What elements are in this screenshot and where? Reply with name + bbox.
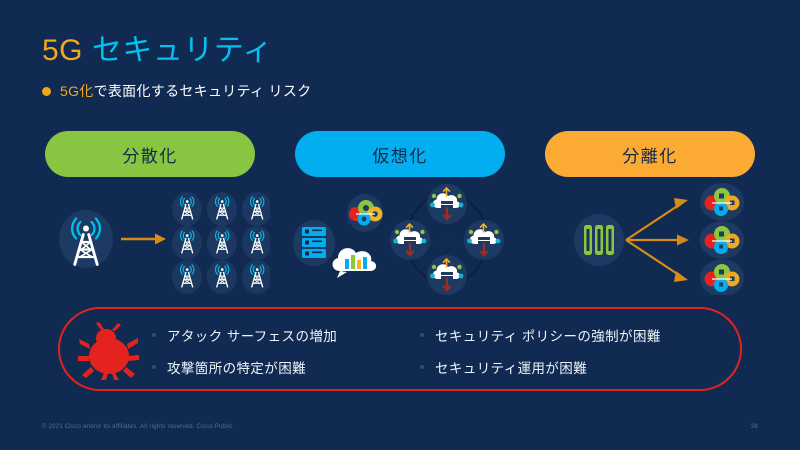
- diagram-distribution: [45, 183, 270, 295]
- page-subtitle: 5G化で表面化するセキュリティ リスク: [60, 81, 311, 101]
- pill-row: 分散化 仮想化 分離化: [0, 131, 800, 177]
- diagram-band: IP ネットワーク: [0, 183, 800, 295]
- alert-box: アタック サーフェスの増加 セキュリティ ポリシーの強制が困難 攻撃箇所の特定が…: [58, 307, 742, 391]
- ip-network-label-line2: ネットワーク: [426, 241, 468, 249]
- cell-tower-small-icon: [207, 192, 237, 226]
- diagram-isolation: [570, 183, 760, 295]
- title-block: 5G セキュリティ 5G化で表面化するセキュリティ リスク: [42, 34, 311, 101]
- server-rack-icon: [293, 220, 335, 266]
- isolation-svg: [570, 183, 760, 295]
- bug-icon: [78, 322, 140, 380]
- cloud-server-node: [464, 220, 504, 260]
- bullet-dot-icon: [42, 87, 51, 96]
- isolation-arrows-icon: [626, 203, 682, 277]
- alert-item: セキュリティ ポリシーの強制が困難: [420, 325, 732, 345]
- virtualization-svg: IP ネットワーク: [290, 183, 505, 295]
- gears-network-icon: [347, 194, 383, 232]
- pill-virtualization[interactable]: 仮想化: [295, 131, 505, 177]
- cell-tower-small-icon: [242, 226, 270, 260]
- cloud-server-node: [390, 220, 430, 260]
- pill-distribution[interactable]: 分散化: [45, 131, 255, 177]
- page-number: 28: [751, 424, 758, 430]
- cell-tower-small-icon: [172, 192, 202, 226]
- slide-canvas: 5G セキュリティ 5G化で表面化するセキュリティ リスク 分散化 仮想化 分離…: [0, 0, 800, 450]
- cloud-server-node: [427, 184, 467, 224]
- alert-bullet-icon: [420, 333, 424, 337]
- ip-network-label-line1: IP: [444, 232, 451, 239]
- cell-tower-small-icon: [207, 226, 237, 260]
- alert-bullet-icon: [152, 365, 156, 369]
- alert-item-label: セキュリティ運用が困難: [435, 357, 587, 377]
- alert-item: セキュリティ運用が困難: [420, 357, 732, 377]
- multi-lock-node: [700, 221, 744, 259]
- alert-bullet-icon: [420, 365, 424, 369]
- subtitle-row: 5G化で表面化するセキュリティ リスク: [42, 81, 311, 101]
- alert-items-grid: アタック サーフェスの増加 セキュリティ ポリシーの強制が困難 攻撃箇所の特定が…: [152, 319, 732, 383]
- alert-item: アタック サーフェスの増加: [152, 325, 420, 345]
- subtitle-highlight: 5G化: [60, 83, 94, 99]
- alert-item-label: 攻撃箇所の特定が困難: [167, 357, 306, 377]
- pill-isolation[interactable]: 分離化: [545, 131, 755, 177]
- cell-tower-backdrop: [59, 210, 113, 268]
- multi-lock-node: [700, 183, 744, 221]
- footer-copyright: © 2021 Cisco and/or its affiliates. All …: [42, 424, 233, 430]
- cell-tower-small-icon: [242, 192, 270, 226]
- distribution-arrow-icon: [121, 234, 166, 245]
- cloud-server-node: [427, 255, 467, 295]
- page-title: 5G セキュリティ: [42, 34, 311, 68]
- title-main: セキュリティ: [92, 34, 273, 67]
- alert-item-label: セキュリティ ポリシーの強制が困難: [435, 325, 661, 345]
- alert-item-label: アタック サーフェスの増加: [167, 325, 337, 345]
- alert-item: 攻撃箇所の特定が困難: [152, 357, 420, 377]
- title-prefix: 5G: [42, 34, 83, 67]
- multi-lock-node: [700, 259, 744, 295]
- distribution-svg: [45, 183, 270, 295]
- cell-tower-small-icon: [172, 226, 202, 260]
- green-server-icon: [574, 214, 624, 266]
- cell-tower-small-icon: [242, 260, 270, 294]
- cell-tower-grid: [172, 192, 270, 294]
- cell-tower-small-icon: [172, 260, 202, 294]
- alert-bullet-icon: [152, 333, 156, 337]
- cloud-analytics-icon: [333, 248, 377, 278]
- subtitle-rest: で表面化するセキュリティ リスク: [94, 83, 312, 99]
- cell-tower-small-icon: [207, 260, 237, 294]
- diagram-virtualization: IP ネットワーク: [290, 183, 505, 295]
